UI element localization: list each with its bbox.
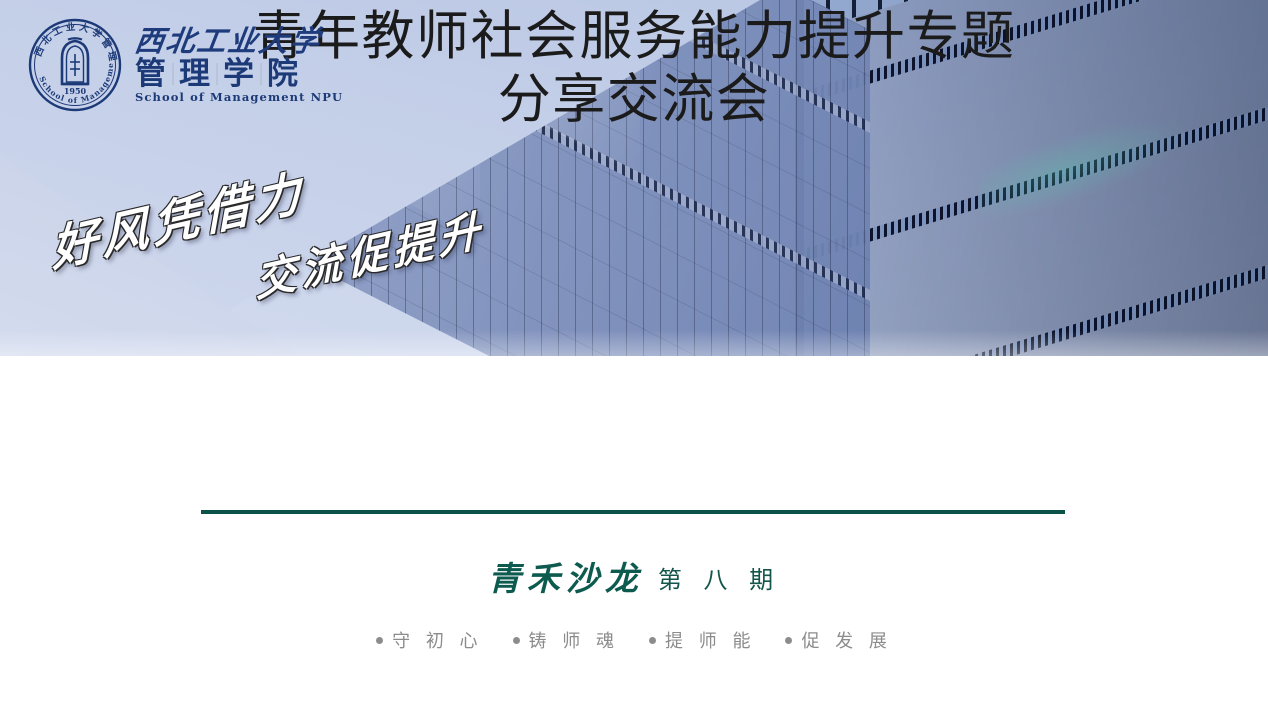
school-emblem-icon: 西北工业大学管理学院 School of Management NPU 1950 (24, 14, 126, 116)
logo-school-name-english: School of Management NPU (135, 92, 343, 104)
logo-school-separator (216, 63, 218, 85)
bullet-dot-icon (649, 637, 656, 644)
tagline-item: 铸 师 魂 (513, 627, 619, 653)
tagline-item-label: 守 初 心 (392, 627, 482, 653)
hero-bottom-fade (0, 330, 1268, 356)
subtitle-series-name: 青禾沙龙 (488, 559, 644, 598)
tagline-item: 提 师 能 (649, 627, 755, 653)
title-panel (0, 356, 1268, 714)
subtitle-issue-number: 第 八 期 (658, 566, 780, 594)
school-logo: 西北工业大学管理学院 School of Management NPU 1950… (24, 14, 343, 116)
bullet-dot-icon (376, 637, 383, 644)
tagline-list: 守 初 心 铸 师 魂 提 师 能 促 发 展 (0, 627, 1268, 653)
tagline-item-label: 促 发 展 (801, 627, 891, 653)
tagline-item-label: 提 师 能 (665, 627, 755, 653)
logo-school-char-4: 院 (267, 59, 299, 90)
title-divider (201, 510, 1065, 514)
logo-school-name: 管 理 学 院 (135, 59, 343, 90)
presentation-title-slide: 西北工业大学管理学院 School of Management NPU 1950… (0, 0, 1268, 714)
logo-school-char-1: 管 (135, 59, 167, 90)
bullet-dot-icon (785, 637, 792, 644)
tagline-item: 促 发 展 (785, 627, 891, 653)
logo-school-char-2: 理 (179, 59, 211, 90)
logo-university-name: 西北工业大学 (133, 27, 345, 56)
bullet-dot-icon (513, 637, 520, 644)
logo-school-separator (260, 63, 262, 85)
tagline-item-label: 铸 师 魂 (529, 627, 619, 653)
tagline-item: 守 初 心 (376, 627, 482, 653)
logo-wordmark: 西北工业大学 管 理 学 院 School of Management NPU (135, 27, 343, 104)
subtitle: 青禾沙龙第 八 期 (0, 552, 1268, 600)
emblem-year-label: 1950 (64, 86, 87, 96)
logo-school-separator (172, 63, 174, 85)
logo-school-char-3: 学 (223, 59, 255, 90)
